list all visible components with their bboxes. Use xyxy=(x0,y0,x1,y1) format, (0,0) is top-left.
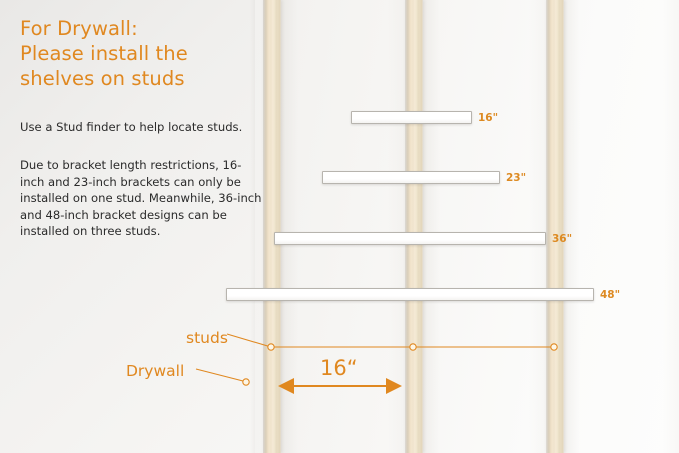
diagram-canvas: For Drywall: Please install the shelves … xyxy=(0,0,679,453)
studs-label: studs xyxy=(186,329,228,347)
dimension-label-16: 16“ xyxy=(320,356,358,380)
dimension-arrowhead-left xyxy=(278,378,294,394)
stud-marker-center xyxy=(410,344,416,350)
drywall-marker xyxy=(243,379,249,385)
annotation-layer xyxy=(0,0,679,453)
drywall-label: Drywall xyxy=(126,362,184,380)
stud-marker-right xyxy=(551,344,557,350)
dimension-arrowhead-right xyxy=(386,378,402,394)
stud-marker-left xyxy=(268,344,274,350)
drywall-leader-line xyxy=(196,369,243,381)
studs-leader-line xyxy=(227,334,271,347)
